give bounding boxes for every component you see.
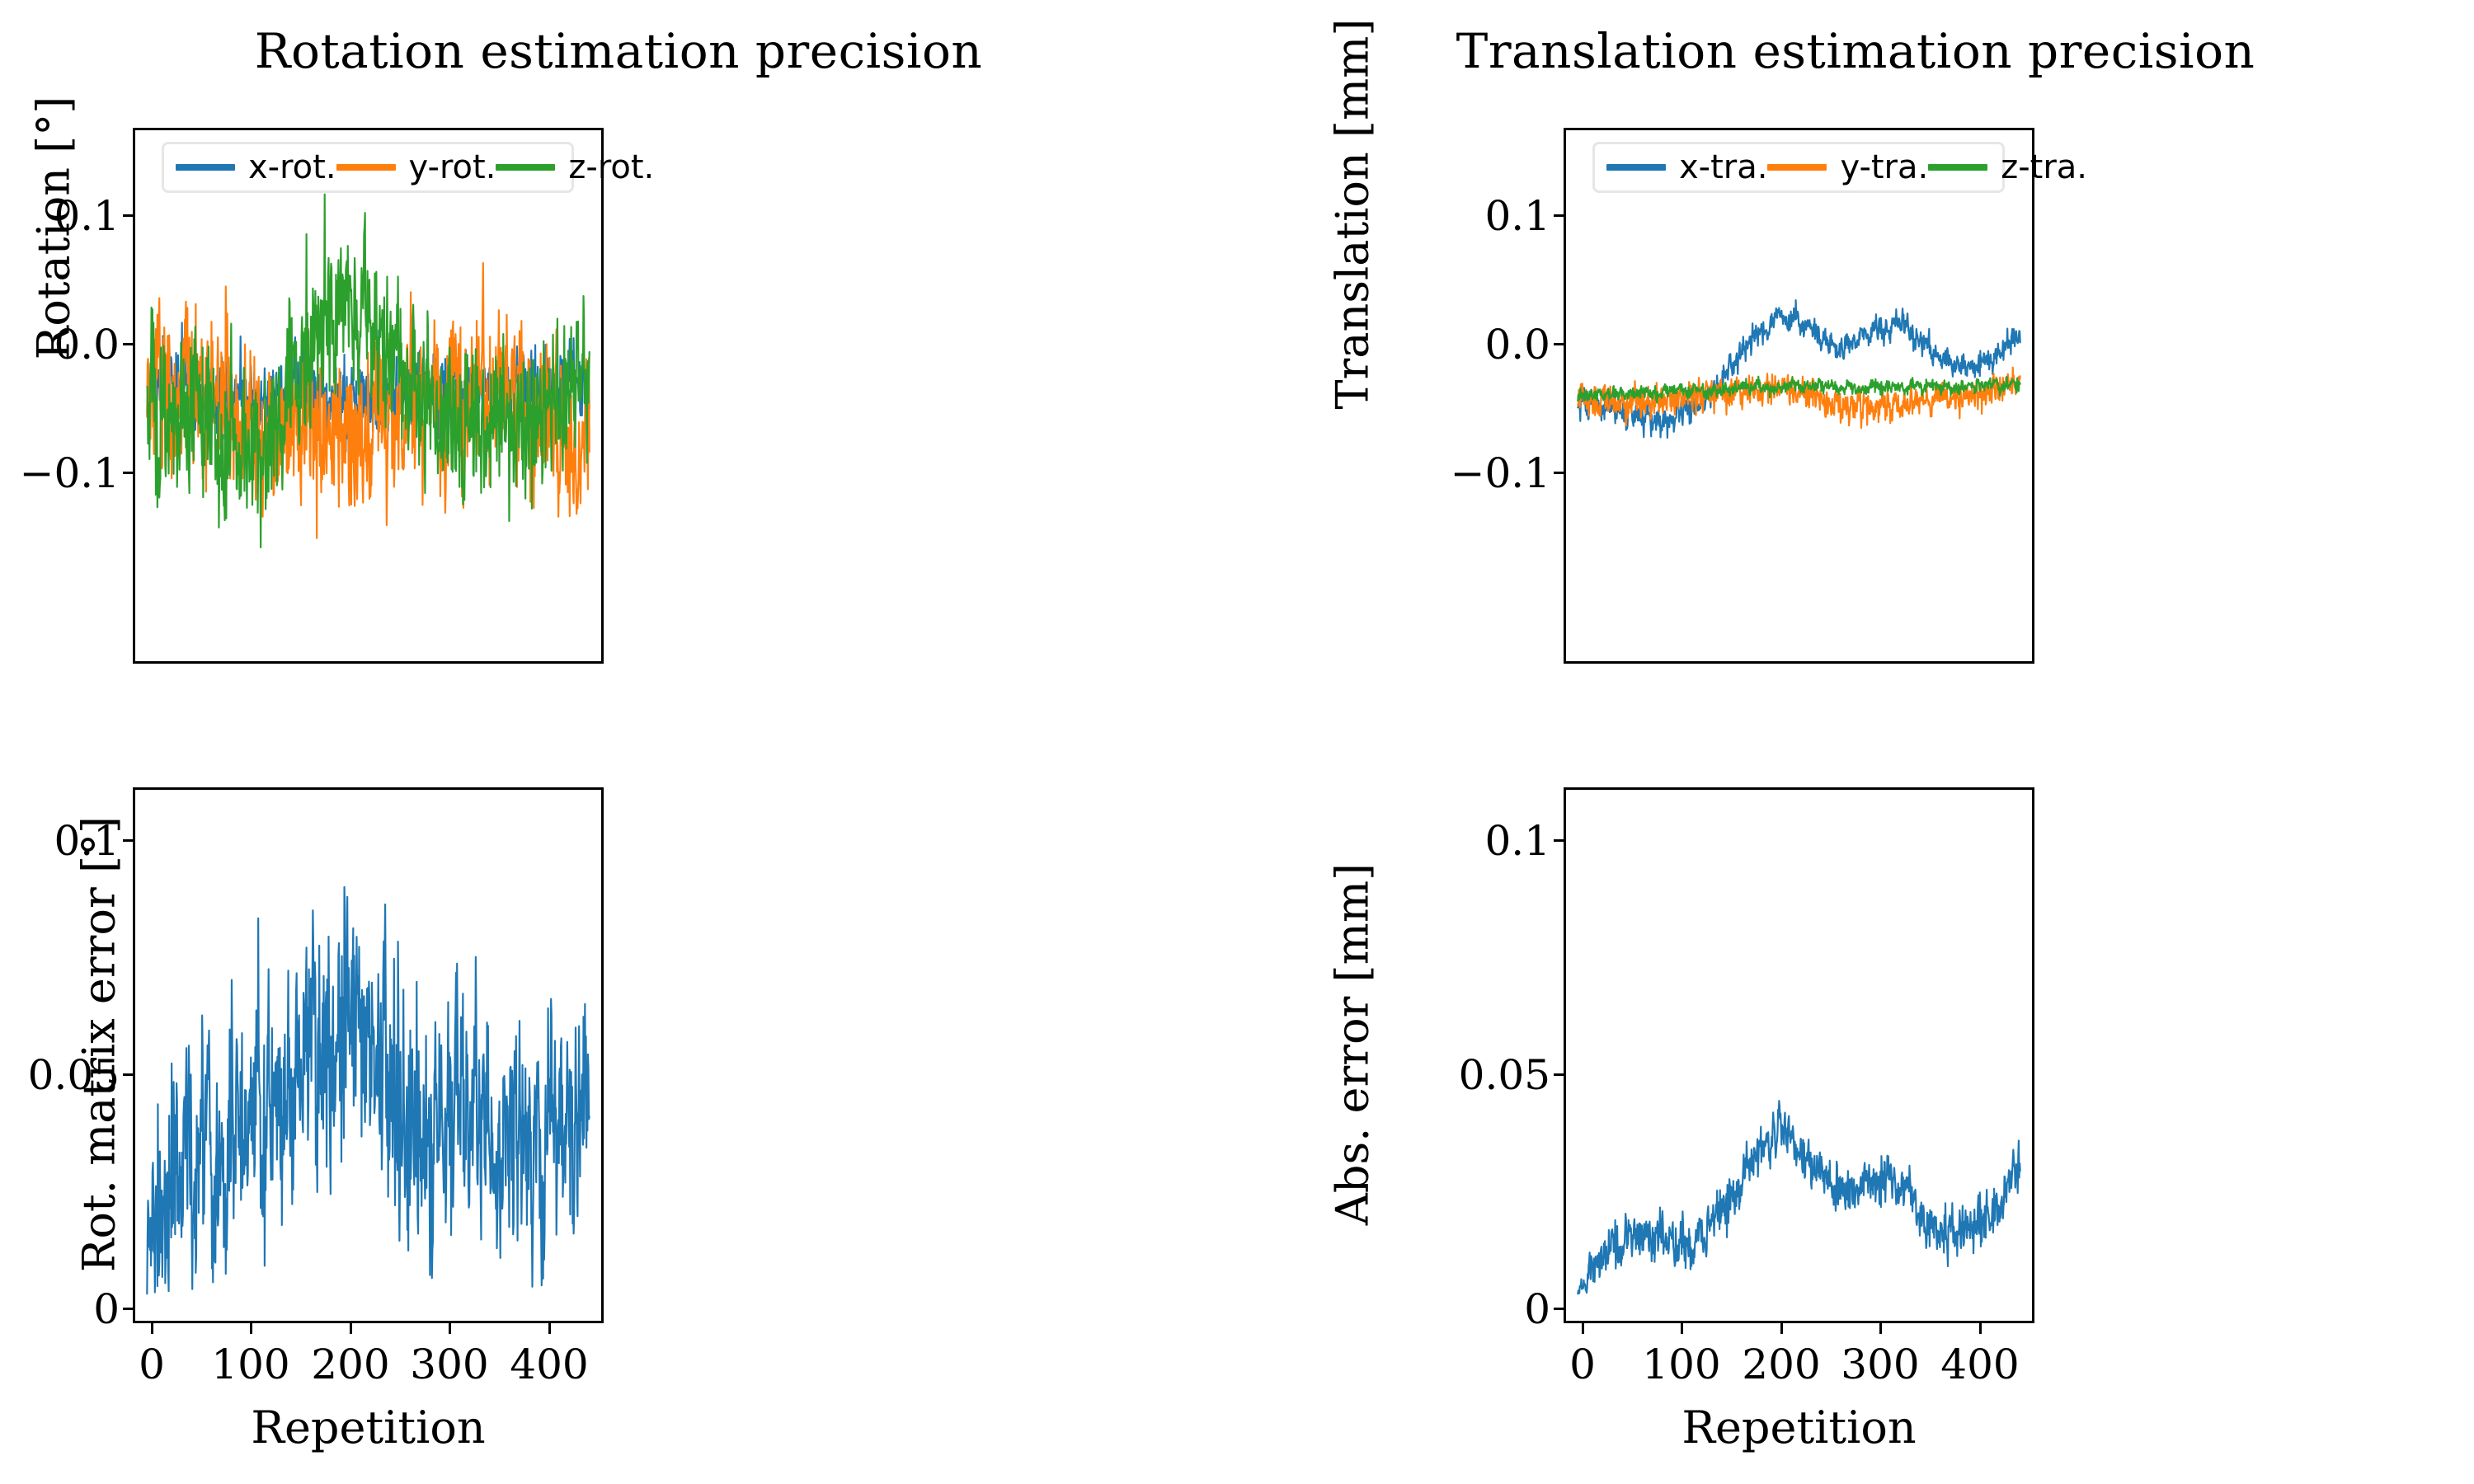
legend-swatch-x-tra [1606,164,1666,171]
series-canvas-abs-error [1566,790,2032,1321]
tickmark-rot-error-x-1 [250,1323,252,1334]
legend-entry-z-tra[interactable]: z-tra. [1928,151,2087,184]
legend-swatch-y-tra [1767,164,1827,171]
series-canvas-rotation [135,130,601,661]
tickmark-rot-error-x-2 [350,1323,352,1334]
tickmark-abs-error-x-0 [1582,1323,1584,1334]
chart-title-rotation: Rotation estimation precision [0,23,1237,79]
axis-label-rot-error-x: Repetition [133,1402,604,1453]
panel-translation-abs-error: Abs. error [mm] 0.1 0.05 0 0 100 200 300… [1237,742,2474,1484]
legend-entry-x-rot[interactable]: x-rot. [176,151,336,184]
ytick-abs-error-0: 0.1 [1431,817,1550,865]
legend-label-z-rot: z-rot. [568,151,654,184]
ytick-abs-error-1: 0.05 [1431,1051,1550,1099]
series-line-x-tra- [1578,300,2020,438]
ytick-rotation-2: −0.1 [0,449,120,497]
plot-area-translation-abs-error[interactable] [1564,787,2034,1323]
legend-swatch-y-rot [336,164,396,171]
legend-entry-y-tra[interactable]: y-tra. [1767,151,1928,184]
ytick-rotation-1: 0.0 [0,321,120,369]
legend-label-x-rot: x-rot. [248,151,336,184]
legend-label-z-tra: z-tra. [2001,151,2087,184]
tickmark-abs-error-x-1 [1681,1323,1683,1334]
legend-label-y-tra: y-tra. [1840,151,1928,184]
legend-swatch-z-rot [496,164,555,171]
tickmark-abs-error-x-3 [1879,1323,1882,1334]
ytick-translation-0: 0.1 [1431,192,1550,240]
ytick-abs-error-2: 0 [1431,1285,1550,1333]
series-line-abs-error [1578,1101,2020,1294]
legend-swatch-x-rot [176,164,235,171]
panel-rotation-matrix-error: Rot. matrix error [°] 0.1 0.05 0 0 100 2… [0,742,1237,1484]
legend-rotation[interactable]: x-rot. y-rot. z-rot. [162,142,574,193]
tickmark-rot-error-x-3 [449,1323,451,1334]
axis-label-translation-y: Translation [mm] [1327,47,1379,410]
ytick-translation-1: 0.0 [1431,321,1550,369]
tickmark-rot-error-x-0 [151,1323,153,1334]
plot-area-rotation-components[interactable] [133,128,604,664]
series-line-rot-matrix-error [147,887,589,1294]
ytick-rot-error-2: 0 [0,1285,120,1333]
series-canvas-translation [1566,130,2032,661]
xtick-abs-error-4: 400 [1914,1341,2046,1388]
ytick-rotation-0: 0.1 [0,192,120,240]
tickmark-rot-error-x-4 [548,1323,551,1334]
panel-translation-components: Translation estimation precision Transla… [1237,0,2474,742]
ytick-translation-2: −0.1 [1431,449,1550,497]
figure-canvas: Rotation estimation precision Rotation [… [0,0,2474,1484]
chart-title-translation: Translation estimation precision [1237,23,2474,79]
plot-area-translation-components[interactable] [1564,128,2034,664]
legend-label-x-tra: x-tra. [1679,151,1767,184]
ytick-rot-error-0: 0.1 [0,817,120,865]
tickmark-abs-error-x-2 [1780,1323,1783,1334]
tickmark-abs-error-x-4 [1979,1323,1982,1334]
legend-swatch-z-tra [1928,164,1987,171]
plot-area-rotation-matrix-error[interactable] [133,787,604,1323]
axis-label-abs-error-x: Repetition [1564,1402,2034,1453]
axis-label-abs-error-y: Abs. error [mm] [1327,847,1379,1242]
series-canvas-rot-error [135,790,601,1321]
panel-rotation-components: Rotation estimation precision Rotation [… [0,0,1237,742]
ytick-rot-error-1: 0.05 [0,1051,120,1099]
legend-label-y-rot: y-rot. [409,151,496,184]
legend-translation[interactable]: x-tra. y-tra. z-tra. [1592,142,2005,193]
legend-entry-x-tra[interactable]: x-tra. [1606,151,1767,184]
legend-entry-z-rot[interactable]: z-rot. [496,151,654,184]
legend-entry-y-rot[interactable]: y-rot. [336,151,496,184]
xtick-rot-error-4: 400 [483,1341,615,1388]
